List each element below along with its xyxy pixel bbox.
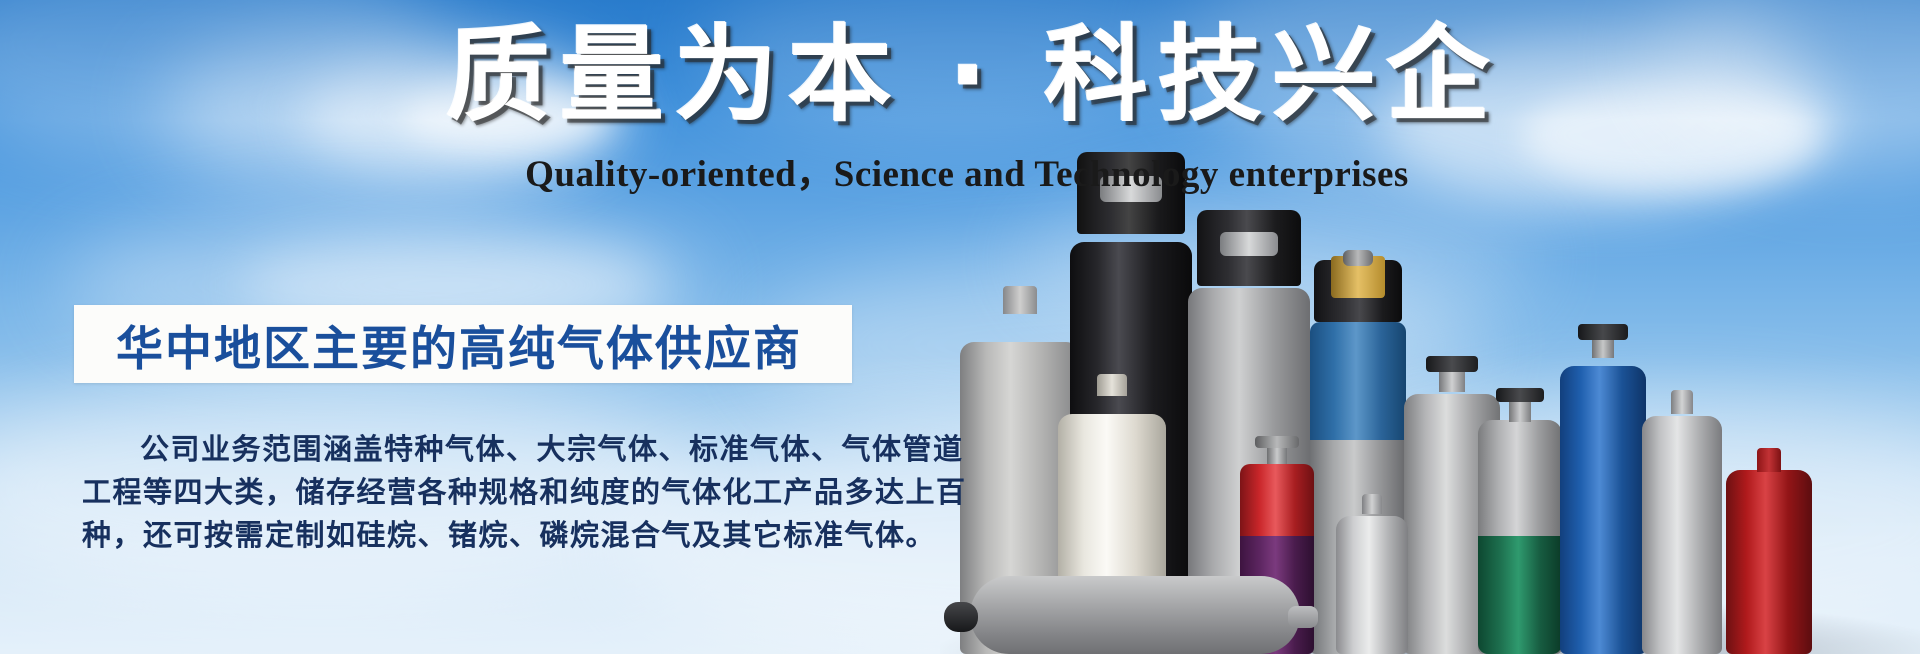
banner-subheadline: Quality-oriented，Science and Technology … [0,143,1920,197]
body-line-1: 公司业务范围涵盖特种气体、大宗气体、标准气体、气体管道 [82,428,872,471]
banner-headline: 质量为本 · 科技兴企 [0,16,1920,135]
promo-banner: 质量为本 · 科技兴企 Quality-oriented，Science and… [0,0,1920,654]
tagline-box: 华中地区主要的高纯气体供应商 [74,305,852,383]
aluminium-cylinder [1642,386,1722,654]
horizontal-grey-cylinder [970,576,1300,654]
banner-body-copy: 公司业务范围涵盖特种气体、大宗气体、标准气体、气体管道 工程等四大类，储存经营各… [82,428,872,557]
body-line-2: 工程等四大类，储存经营各种规格和纯度的气体化工产品多达上百 [82,471,872,514]
green-grey-cylinder [1478,386,1562,654]
tagline-text: 华中地区主要的高纯气体供应商 [74,310,802,379]
blue-tall-cylinder [1560,324,1646,654]
body-line-3: 种，还可按需定制如硅烷、锗烷、磷烷混合气及其它标准气体。 [82,514,872,557]
dark-red-cylinder [1726,444,1812,654]
small-silver-cylinder [1336,492,1408,654]
